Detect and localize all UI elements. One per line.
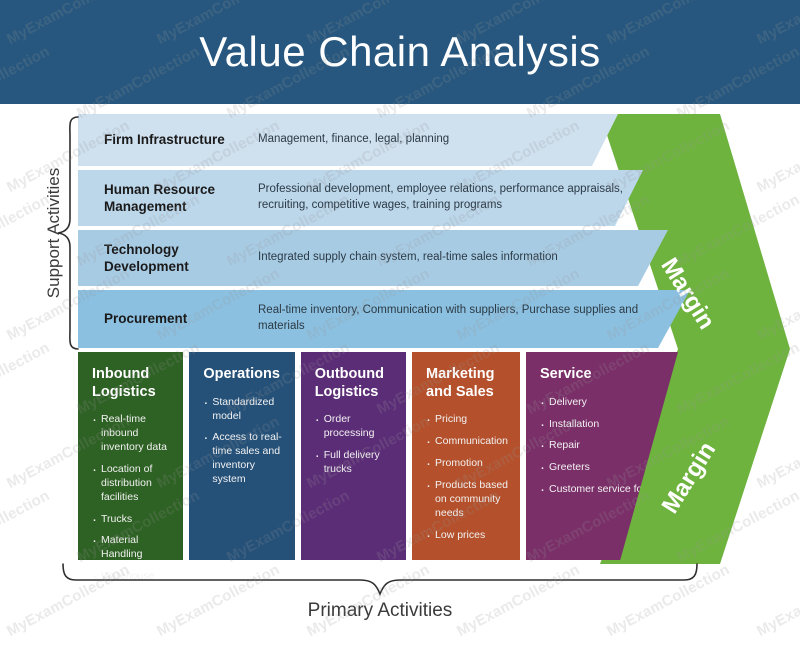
list-item: Low prices bbox=[426, 529, 508, 543]
support-row-title: Human Resource Management bbox=[78, 181, 258, 216]
list-item: Greeters bbox=[540, 461, 674, 475]
primary-activity-column[interactable]: Inbound LogisticsReal-time inbound inven… bbox=[78, 352, 183, 560]
support-row-title: Procurement bbox=[78, 310, 258, 327]
list-item: Real-time inbound inventory data bbox=[92, 413, 171, 455]
support-row-description: Integrated supply chain system, real-tim… bbox=[258, 250, 668, 266]
list-item: Installation bbox=[540, 418, 674, 432]
primary-activity-column[interactable]: Outbound LogisticsOrder processingFull d… bbox=[301, 352, 406, 560]
primary-activities-bracket: Primary Activities bbox=[60, 562, 700, 652]
primary-column-title: Service bbox=[540, 366, 674, 384]
primary-column-list: PricingCommunicationPromotionProducts ba… bbox=[426, 413, 508, 542]
list-item: Location of distribution facilities bbox=[92, 463, 171, 505]
primary-activity-column[interactable]: OperationsStandardized modelAccess to re… bbox=[189, 352, 294, 560]
primary-column-title: Marketing and Sales bbox=[426, 366, 508, 401]
support-activity-row[interactable]: ProcurementReal-time inventory, Communic… bbox=[78, 290, 690, 348]
list-item: Full delivery trucks bbox=[315, 449, 394, 477]
list-item: Standardized model bbox=[203, 396, 282, 424]
support-row-description: Management, finance, legal, planning bbox=[258, 132, 618, 148]
support-row-title: Technology Development bbox=[78, 241, 258, 276]
list-item: Material Handling bbox=[92, 534, 171, 562]
primary-activity-column[interactable]: ServiceDeliveryInstallationRepairGreeter… bbox=[526, 352, 678, 560]
list-item: Order processing bbox=[315, 413, 394, 441]
primary-activities-group: Inbound LogisticsReal-time inbound inven… bbox=[78, 352, 678, 560]
list-item: Trucks bbox=[92, 513, 171, 527]
value-chain-diagram: Margin Margin Firm InfrastructureManagem… bbox=[0, 104, 800, 654]
primary-column-list: Order processingFull delivery trucks bbox=[315, 413, 394, 476]
list-item: Pricing bbox=[426, 413, 508, 427]
list-item: Delivery bbox=[540, 396, 674, 410]
page-title: Value Chain Analysis bbox=[0, 28, 800, 76]
support-row-description: Professional development, employee relat… bbox=[258, 182, 643, 213]
list-item: Customer service focus bbox=[540, 483, 674, 497]
support-row-content: Firm InfrastructureManagement, finance, … bbox=[78, 114, 618, 166]
support-activity-row[interactable]: Firm InfrastructureManagement, finance, … bbox=[78, 114, 618, 166]
list-item: Products based on community needs bbox=[426, 479, 508, 521]
list-item: Promotion bbox=[426, 457, 508, 471]
support-activities-group: Firm InfrastructureManagement, finance, … bbox=[0, 104, 800, 354]
list-item: Repair bbox=[540, 439, 674, 453]
list-item: Communication bbox=[426, 435, 508, 449]
primary-activities-label: Primary Activities bbox=[60, 600, 700, 622]
primary-column-list: Real-time inbound inventory dataLocation… bbox=[92, 413, 171, 584]
support-activity-row[interactable]: Human Resource ManagementProfessional de… bbox=[78, 170, 643, 226]
primary-brace-icon bbox=[60, 562, 700, 596]
primary-column-title: Inbound Logistics bbox=[92, 366, 171, 401]
list-item: Access to real-time sales and inventory … bbox=[203, 431, 282, 486]
support-activities-bracket: Support Activities bbox=[18, 114, 80, 352]
support-row-description: Real-time inventory, Communication with … bbox=[258, 303, 690, 334]
support-activity-row[interactable]: Technology DevelopmentIntegrated supply … bbox=[78, 230, 668, 286]
support-row-title: Firm Infrastructure bbox=[78, 131, 258, 148]
primary-column-list: DeliveryInstallationRepairGreetersCustom… bbox=[540, 396, 674, 497]
primary-column-list: Standardized modelAccess to real-time sa… bbox=[203, 396, 282, 487]
page-header: Value Chain Analysis bbox=[0, 0, 800, 104]
support-row-content: ProcurementReal-time inventory, Communic… bbox=[78, 290, 690, 348]
primary-column-title: Operations bbox=[203, 366, 282, 384]
primary-column-title: Outbound Logistics bbox=[315, 366, 394, 401]
primary-activity-column[interactable]: Marketing and SalesPricingCommunicationP… bbox=[412, 352, 520, 560]
support-row-content: Human Resource ManagementProfessional de… bbox=[78, 170, 643, 226]
support-row-content: Technology DevelopmentIntegrated supply … bbox=[78, 230, 668, 286]
support-activities-label: Support Activities bbox=[44, 123, 64, 343]
